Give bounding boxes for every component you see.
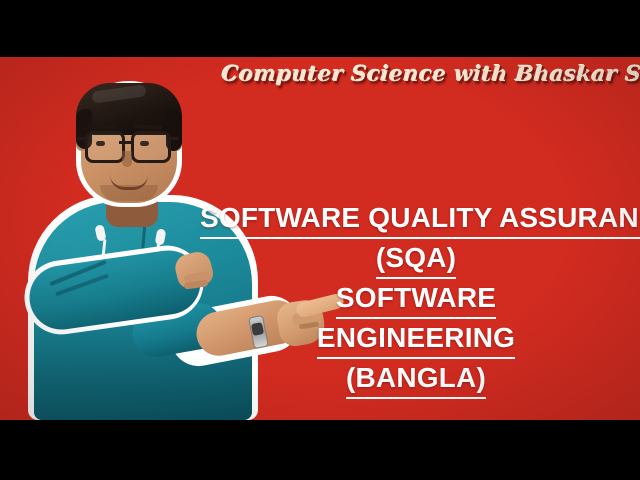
eyeglasses-lens-right (131, 131, 171, 163)
video-thumbnail: P Computer Science with Bhaskar Sir (0, 0, 640, 480)
thumbnail-canvas: P Computer Science with Bhaskar Sir (0, 57, 640, 420)
channel-brand-watermark: Computer Science with Bhaskar Sir (222, 61, 622, 86)
title-line-2-text: (SQA) (376, 239, 456, 279)
nose (122, 151, 132, 167)
title-line-1-text: SOFTWARE QUALITY ASSURANCE (200, 199, 640, 239)
title-line-5: (BANGLA) (200, 359, 632, 399)
eyeglasses-temple-left (77, 137, 86, 140)
eyeglasses-temple-right (168, 137, 178, 140)
letterbox-bar-top (0, 0, 640, 57)
title-line-2: (SQA) (200, 239, 632, 279)
title-line-4-text: ENGINEERING (317, 319, 515, 359)
eyeglasses-bridge (119, 141, 131, 144)
title-line-3-text: SOFTWARE (336, 279, 496, 319)
title-line-1: SOFTWARE QUALITY ASSURANCE (200, 199, 632, 239)
chin-shading (100, 185, 158, 201)
title-line-4: ENGINEERING (200, 319, 632, 359)
eyeglasses-lens-left (85, 131, 125, 163)
title-line-5-text: (BANGLA) (346, 359, 486, 399)
thumbnail-title: SOFTWARE QUALITY ASSURANCE (SQA) SOFTWAR… (200, 199, 632, 399)
title-line-3: SOFTWARE (200, 279, 632, 319)
letterbox-bar-bottom (0, 420, 640, 480)
channel-brand-text: Computer Science with Bhaskar Sir (221, 61, 640, 86)
